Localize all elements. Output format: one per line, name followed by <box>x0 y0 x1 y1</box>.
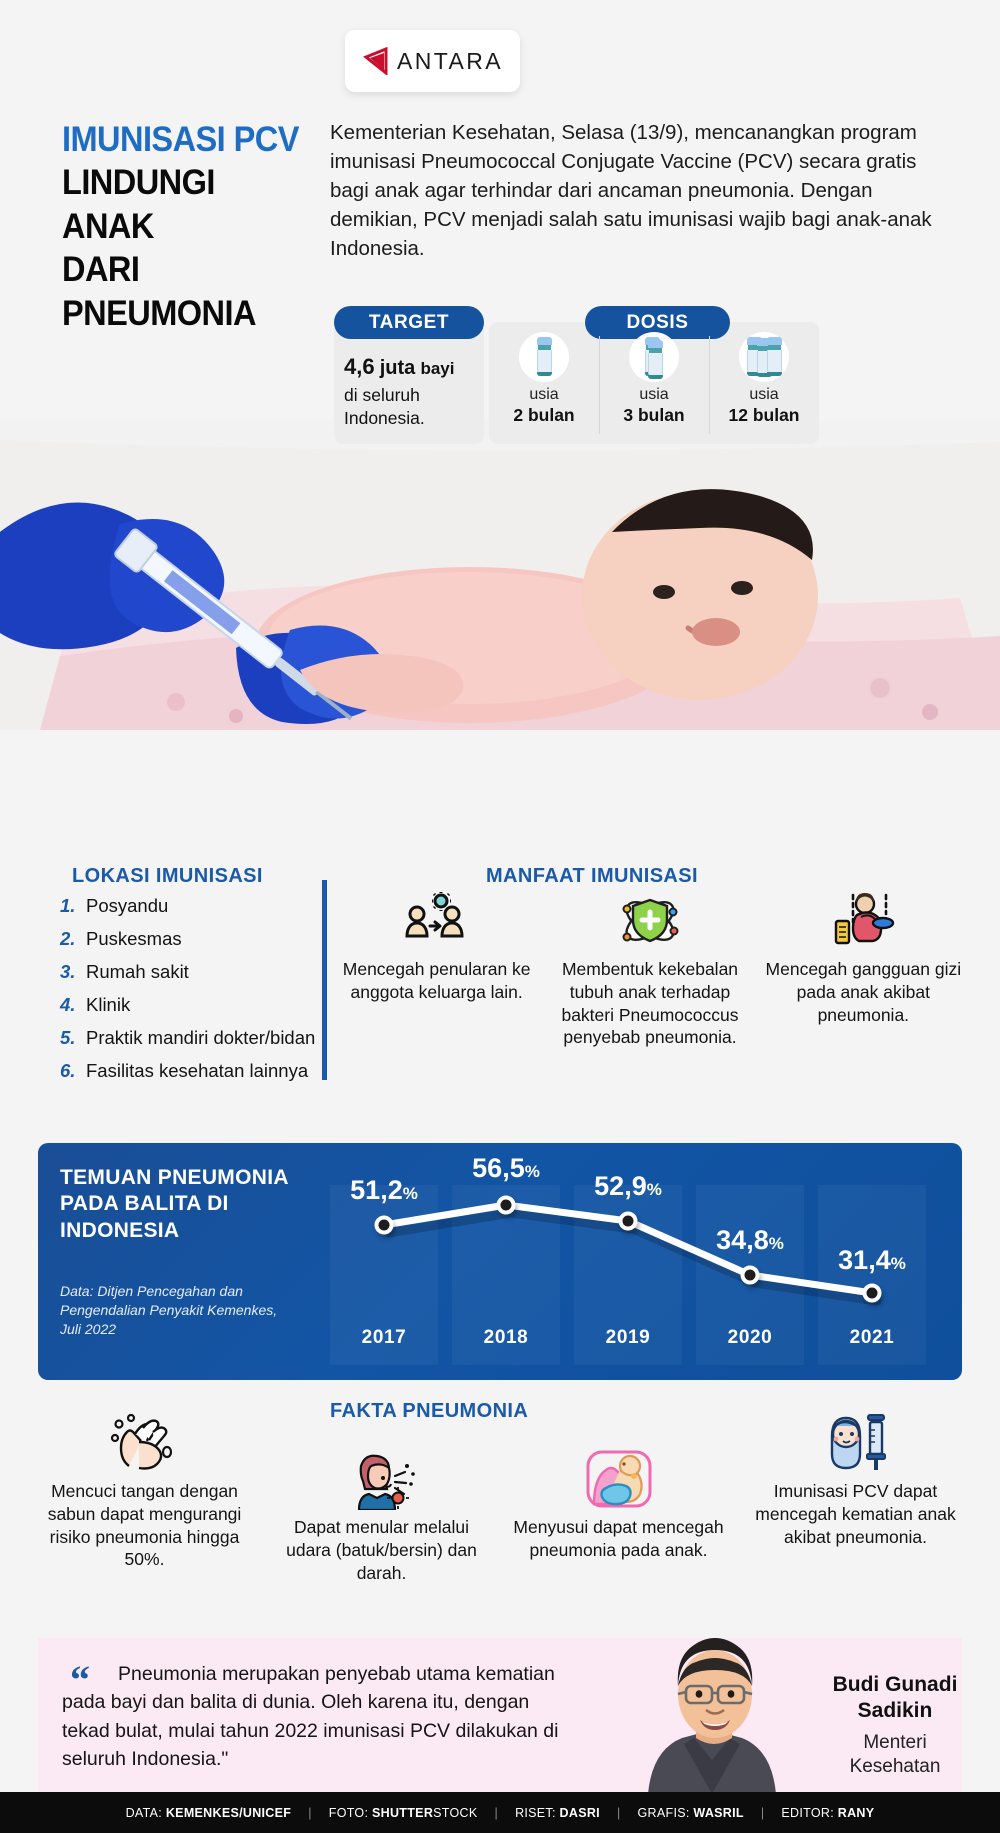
minister-name: Budi Gunadi Sadikin <box>820 1672 970 1723</box>
list-item-number: 3. <box>60 961 86 983</box>
dose-prefix-2: usia <box>639 386 668 404</box>
chart-title: TEMUAN PNEUMONIA PADA BALITA DI INDONESI… <box>60 1165 310 1244</box>
list-item-number: 1. <box>60 895 86 917</box>
chart-point-2019 <box>619 1212 638 1231</box>
credit-separator: | <box>488 1806 506 1820</box>
target-value: 4,6 <box>344 354 375 379</box>
chart-value-label-2019: 52,9% <box>594 1171 662 1202</box>
target-unit: juta <box>380 357 416 379</box>
manfaat-item-3: Mencegah gangguan gizi pada anak akibat … <box>757 890 970 1049</box>
list-item-label: Posyandu <box>86 895 168 917</box>
manfaat-item-2: Membentuk kekebalan tubuh anak terhadap … <box>543 890 756 1049</box>
credit-separator: | <box>754 1806 772 1820</box>
fakta-text-4: Imunisasi PCV dapat mencegah kematian an… <box>747 1480 964 1548</box>
chart-value-label-2018: 56,5% <box>472 1153 540 1184</box>
chart-point-2021 <box>863 1284 882 1303</box>
list-item: 6. Fasilitas kesehatan lainnya <box>60 1060 360 1082</box>
shield-atom-immunity-icon <box>619 890 681 952</box>
list-item-label: Klinik <box>86 994 130 1016</box>
fakta-text-1: Mencuci tangan dengan sabun dapat mengur… <box>36 1480 253 1571</box>
list-item: 1. Posyandu <box>60 895 360 917</box>
manfaat-section-title: MANFAAT IMUNISASI <box>486 865 698 888</box>
lokasi-section-title: LOKASI IMUNISASI <box>72 865 263 888</box>
credit-foto: FOTO: SHUTTERSTOCK <box>329 1806 478 1820</box>
vaccine-vial-1-icon <box>519 332 569 382</box>
quote-text: Pneumonia merupakan penyebab utama kemat… <box>62 1660 582 1773</box>
minister-portrait <box>620 1634 810 1794</box>
list-item: 3. Rumah sakit <box>60 961 360 983</box>
dose-prefix-3: usia <box>749 386 778 404</box>
chart-xtick-2017: 2017 <box>330 1327 438 1349</box>
people-transmission-icon <box>405 890 469 952</box>
chart-point-2018 <box>497 1196 516 1215</box>
dose-age-2: 3 bulan <box>623 405 684 426</box>
fakta-text-3: Menyusui dapat mencegah pneumonia pada a… <box>510 1516 727 1562</box>
fakta-item-1: Mencuci tangan dengan sabun dapat mengur… <box>26 1408 263 1571</box>
list-item-number: 4. <box>60 994 86 1016</box>
chart-xtick-2021: 2021 <box>818 1327 926 1349</box>
fakta-item-3: Menyusui dapat mencegah pneumonia pada a… <box>500 1444 737 1562</box>
list-item-label: Praktik mandiri dokter/bidan <box>86 1027 315 1049</box>
list-item-number: 6. <box>60 1060 86 1082</box>
credit-riset: RISET: DASRI <box>515 1806 600 1820</box>
list-item: 4. Klinik <box>60 994 360 1016</box>
chart-source-note: Data: Ditjen Pencegahan dan Pengendalian… <box>60 1282 290 1339</box>
chart-plot-area: 51,2% 56,5% 52,9% 34,8% 31,4% 2017 2018 … <box>330 1153 940 1371</box>
chart-value-label-2017: 51,2% <box>350 1175 418 1206</box>
headline-line-3: DARI PNEUMONIA <box>62 248 313 335</box>
credit-grafis: GRAFIS: WASRIL <box>638 1806 744 1820</box>
vaccine-vial-2-icon <box>629 332 679 382</box>
fakta-item-4: Imunisasi PCV dapat mencegah kematian an… <box>737 1408 974 1548</box>
list-item-number: 2. <box>60 928 86 950</box>
dose-item-1: usia 2 bulan <box>489 328 599 440</box>
headline-line-2: LINDUNGI ANAK <box>62 161 313 248</box>
target-sub: di seluruh Indonesia. <box>344 384 479 431</box>
manfaat-text-2: Membentuk kekebalan tubuh anak terhadap … <box>551 958 748 1049</box>
dose-list: usia 2 bulan usia 3 bulan usia 12 bulan <box>489 328 819 440</box>
list-item-label: Fasilitas kesehatan lainnya <box>86 1060 308 1082</box>
list-item-number: 5. <box>60 1027 86 1049</box>
minister-role: Menteri Kesehatan <box>820 1731 970 1779</box>
baby-syringe-icon <box>822 1408 890 1474</box>
credit-editor: EDITOR: RANY <box>781 1806 874 1820</box>
list-item: 5. Praktik mandiri dokter/bidan <box>60 1027 360 1049</box>
manfaat-text-3: Mencegah gangguan gizi pada anak akibat … <box>765 958 962 1026</box>
dose-item-2: usia 3 bulan <box>599 328 709 440</box>
chart-value-label-2021: 31,4% <box>838 1245 906 1276</box>
dose-age-3: 12 bulan <box>729 405 800 426</box>
vaccination-photo <box>0 420 1000 730</box>
infographic-page: ANTARA IMUNISASI PCV LINDUNGI ANAK DARI … <box>0 0 1000 1833</box>
fakta-text-2: Dapat menular melalui udara (batuk/bersi… <box>273 1516 490 1584</box>
headline-line-1: IMUNISASI PCV <box>62 118 313 161</box>
list-item: 2. Puskesmas <box>60 928 360 950</box>
fakta-item-2: Dapat menular melalui udara (batuk/bersi… <box>263 1444 500 1584</box>
credit-data: DATA: KEMENKES/UNICEF <box>126 1806 292 1820</box>
fakta-list: Mencuci tangan dengan sabun dapat mengur… <box>26 1408 974 1584</box>
credit-separator: | <box>610 1806 628 1820</box>
manfaat-text-1: Mencegah penularan ke anggota keluarga l… <box>338 958 535 1004</box>
list-item-label: Puskesmas <box>86 928 182 950</box>
manfaat-list: Mencegah penularan ke anggota keluarga l… <box>330 890 970 1049</box>
chart-xtick-2019: 2019 <box>574 1327 682 1349</box>
chart-xtick-2018: 2018 <box>452 1327 560 1349</box>
section-divider <box>322 880 327 1080</box>
target-value-block: 4,6 juta bayi di seluruh Indonesia. <box>344 352 479 430</box>
target-pill-label: TARGET <box>334 306 484 339</box>
antara-logo: ANTARA <box>345 30 520 92</box>
dose-age-1: 2 bulan <box>513 405 574 426</box>
vaccine-vial-3-icon <box>739 332 789 382</box>
malnutrition-child-icon <box>831 890 895 952</box>
chart-point-2020 <box>741 1266 760 1285</box>
washing-hands-icon <box>109 1408 181 1474</box>
chart-point-2017 <box>375 1216 394 1235</box>
chart-value-label-2020: 34,8% <box>716 1225 784 1256</box>
manfaat-item-1: Mencegah penularan ke anggota keluarga l… <box>330 890 543 1049</box>
list-item-label: Rumah sakit <box>86 961 189 983</box>
headline: IMUNISASI PCV LINDUNGI ANAK DARI PNEUMON… <box>62 118 332 335</box>
lokasi-list: 1. Posyandu 2. Puskesmas 3. Rumah sakit … <box>60 895 360 1093</box>
target-unit-2: bayi <box>420 359 454 378</box>
coughing-person-icon <box>349 1444 415 1510</box>
minister-credit: Budi Gunadi Sadikin Menteri Kesehatan <box>820 1672 970 1779</box>
antara-arrow-logo-icon <box>362 47 388 75</box>
dose-prefix-1: usia <box>529 386 558 404</box>
antara-wordmark: ANTARA <box>397 48 503 75</box>
credits-footer: DATA: KEMENKES/UNICEF | FOTO: SHUTTERSTO… <box>0 1792 1000 1833</box>
chart-xtick-2020: 2020 <box>696 1327 804 1349</box>
breastfeeding-icon <box>584 1444 654 1510</box>
dose-item-3: usia 12 bulan <box>709 328 819 440</box>
lede-paragraph: Kementerian Kesehatan, Selasa (13/9), me… <box>330 118 950 264</box>
credit-separator: | <box>301 1806 319 1820</box>
